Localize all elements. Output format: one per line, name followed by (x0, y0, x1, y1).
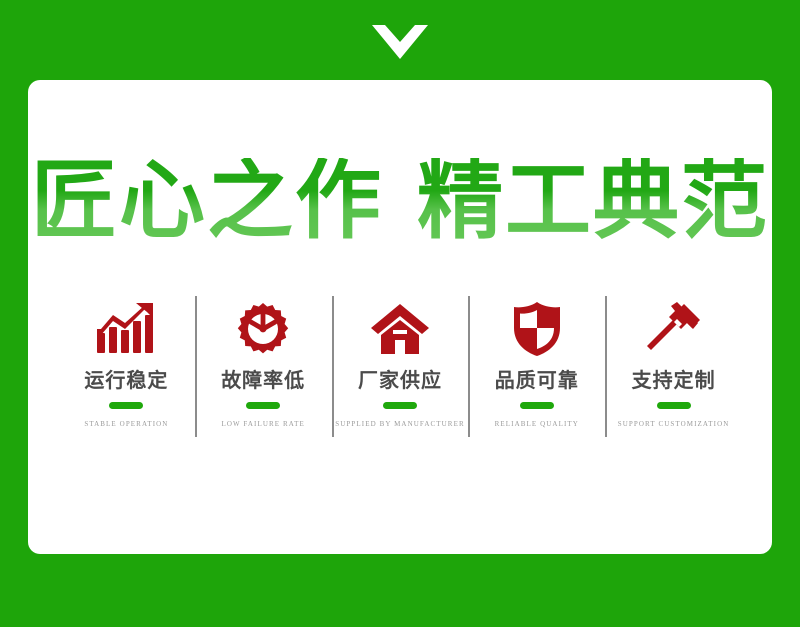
shield-check-icon (513, 298, 561, 360)
content-card: 匠心之作精工典范 (28, 80, 772, 554)
gear-icon (237, 298, 289, 360)
feature-item-reliable-quality: 品质可靠 RELIABLE QUALITY (468, 296, 605, 446)
feature-subtitle: STABLE OPERATION (84, 420, 168, 428)
feature-label: 品质可靠 (495, 364, 579, 393)
house-icon (371, 298, 429, 360)
feature-item-supplied-by-manufacturer: 厂家供应 SUPPLIED BY MANUFACTURER (332, 296, 469, 446)
promo-banner: 匠心之作精工典范 (0, 0, 800, 627)
feature-subtitle: LOW FAILURE RATE (221, 420, 304, 428)
feature-accent-dash (383, 402, 417, 409)
page-title-part-one: 匠心之作 (31, 151, 383, 251)
bar-chart-growth-icon (95, 298, 157, 360)
chevron-down-icon-wrapper (0, 22, 800, 62)
page-title-part-two: 精工典范 (417, 151, 769, 251)
feature-label: 运行稳定 (84, 364, 168, 393)
page-title: 匠心之作精工典范 (28, 158, 772, 244)
feature-label: 故障率低 (221, 364, 305, 393)
hammer-icon (646, 298, 702, 360)
feature-accent-dash (246, 402, 280, 409)
feature-subtitle: SUPPLIED BY MANUFACTURER (335, 420, 464, 428)
feature-item-support-customization: 支持定制 SUPPORT CUSTOMIZATION (605, 296, 742, 446)
chevron-down-icon (372, 25, 428, 59)
feature-subtitle: RELIABLE QUALITY (495, 420, 579, 428)
feature-accent-dash (109, 402, 143, 409)
feature-item-stable-operation: 运行稳定 STABLE OPERATION (58, 296, 195, 446)
feature-label: 支持定制 (632, 364, 716, 393)
feature-subtitle: SUPPORT CUSTOMIZATION (618, 420, 730, 428)
feature-accent-dash (657, 402, 691, 409)
feature-label: 厂家供应 (358, 364, 442, 393)
feature-accent-dash (520, 402, 554, 409)
feature-list: 运行稳定 STABLE OPERATION (58, 296, 742, 446)
feature-item-low-failure-rate: 故障率低 LOW FAILURE RATE (195, 296, 332, 446)
